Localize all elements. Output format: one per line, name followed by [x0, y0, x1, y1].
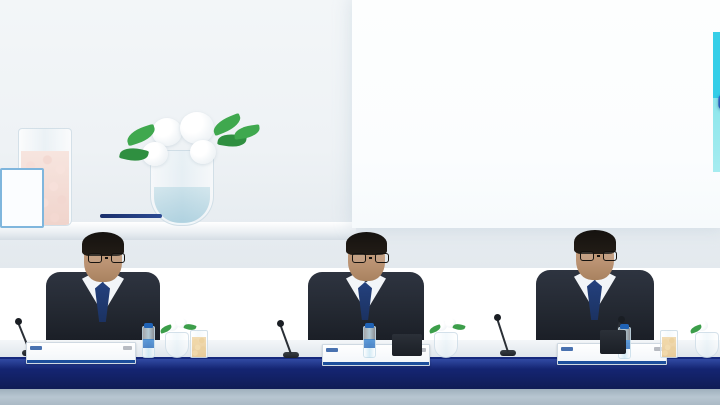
- glasses-bridge: [105, 257, 108, 259]
- bar-2020-savings-label: 476: [713, 128, 720, 140]
- bar-2020-time-segment: 452: [713, 32, 720, 98]
- bank-logo-icon: [561, 347, 573, 351]
- bottle-label: [143, 339, 154, 348]
- snack-jar-right: [660, 330, 678, 358]
- mic-head: [15, 318, 22, 325]
- placard-accent-bar: [323, 362, 429, 365]
- glasses-bridge: [597, 255, 600, 257]
- water-bottle-center: [363, 326, 376, 358]
- bottle-cap: [144, 323, 153, 328]
- projection-screen: 1,121 1,139 452 476 420: [352, 0, 720, 228]
- mic-head: [618, 316, 625, 323]
- person-center-hair: [346, 232, 387, 255]
- bar-2020-savings-segment: 476: [713, 98, 720, 172]
- glasses-lens: [580, 251, 594, 261]
- screenshot-stage: 1,121 1,139 452 476 420: [0, 0, 720, 405]
- glasses-lens: [352, 253, 366, 263]
- table-base: [0, 389, 720, 405]
- bottle-label: [364, 339, 375, 348]
- vase-water: [154, 187, 210, 223]
- table-leaf: [452, 322, 465, 331]
- person-right: [528, 228, 662, 340]
- deposit-composition-chart: 1,121 1,139 452 476 420: [708, 0, 720, 222]
- secondary-logo-icon: [123, 346, 132, 350]
- bottle-cap: [620, 324, 629, 329]
- bottle-cap: [365, 323, 374, 328]
- person-left-glasses-icon: [88, 253, 125, 263]
- snack-jar-contents: [192, 337, 206, 357]
- snack-jar-contents: [662, 337, 676, 357]
- table-vase-left: [165, 332, 189, 358]
- water-bottle-left: [142, 326, 155, 358]
- glasses-bridge: [369, 257, 372, 259]
- table-vase-center: [434, 332, 458, 358]
- white-rose: [190, 140, 216, 164]
- mic-head: [277, 320, 284, 327]
- bank-logo-icon: [30, 346, 42, 350]
- person-right-glasses-icon: [580, 251, 617, 261]
- chart-legend: Demand Deposit Savings Tim: [708, 194, 720, 212]
- person-center-glasses-icon: [352, 253, 389, 263]
- demand-deposit-2020: 193: [709, 172, 720, 184]
- mic-head: [494, 314, 501, 321]
- name-placard-left: [26, 342, 136, 364]
- info-card: [0, 168, 44, 228]
- glasses-lens: [603, 251, 617, 261]
- placard-accent-bar: [27, 360, 135, 363]
- snack-jar-left: [190, 330, 208, 358]
- placard-accent-bar: [558, 361, 666, 364]
- laptop-right: [600, 330, 626, 354]
- white-rose: [180, 112, 214, 144]
- glasses-lens: [88, 253, 102, 263]
- glasses-lens: [375, 253, 389, 263]
- pen: [100, 214, 162, 218]
- laptop-center: [392, 334, 422, 356]
- glasses-lens: [111, 253, 125, 263]
- bank-logo-icon: [326, 348, 338, 352]
- table-vase-right: [695, 332, 719, 358]
- chart-bars: 452 476 420 498: [708, 0, 720, 172]
- bar-2020-time-label: 452: [713, 55, 720, 67]
